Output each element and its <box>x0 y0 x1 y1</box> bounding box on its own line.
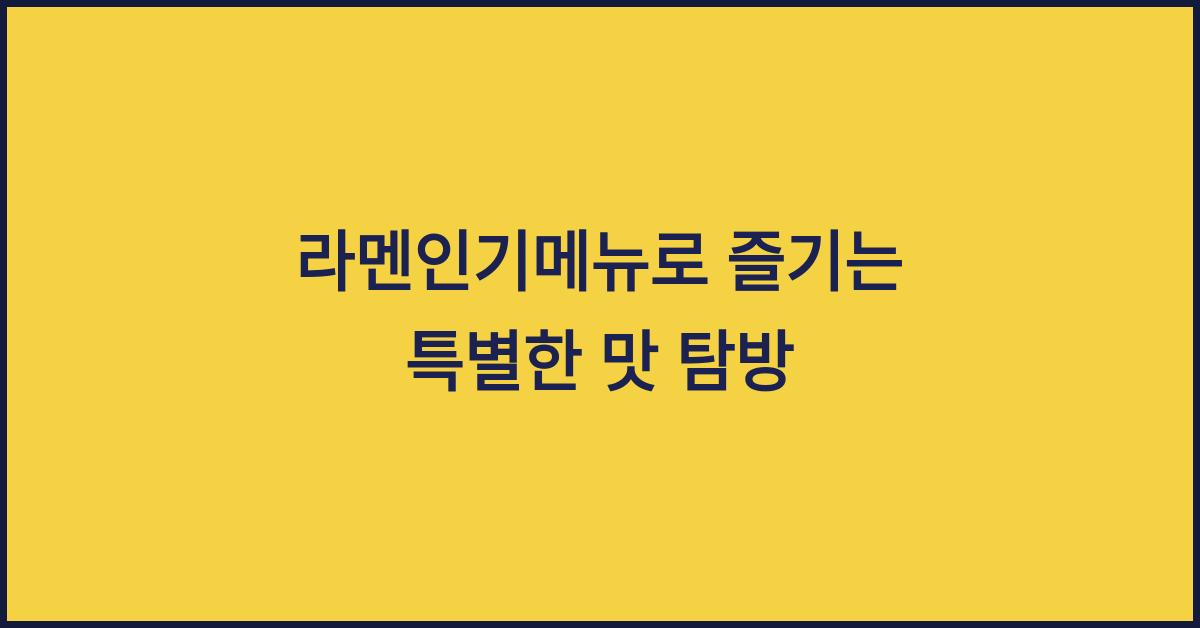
headline-line-1: 라멘인기메뉴로 즐기는 <box>19 212 1181 312</box>
page-title: 라멘인기메뉴로 즐기는 특별한 맛 탐방 <box>19 214 1181 414</box>
banner-container: 라멘인기메뉴로 즐기는 특별한 맛 탐방 <box>0 0 1200 628</box>
headline-line-2: 특별한 맛 탐방 <box>19 312 1181 412</box>
